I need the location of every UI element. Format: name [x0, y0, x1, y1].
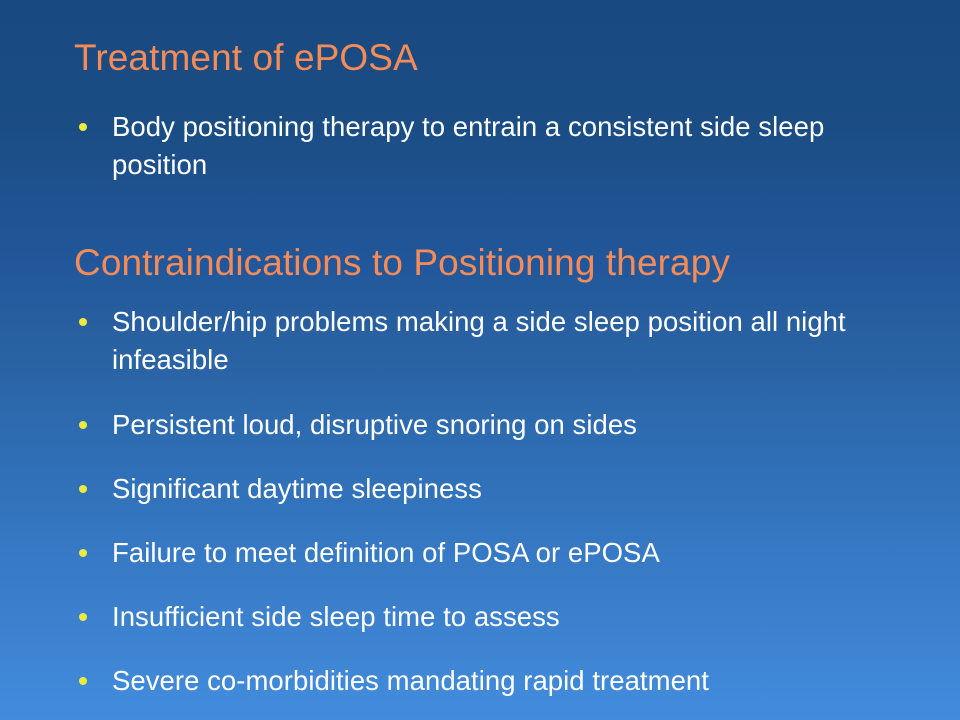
bullet-dot-icon [79, 677, 87, 685]
bullet-dot-icon [79, 485, 87, 493]
list-item-text: Shoulder/hip problems making a side slee… [112, 303, 904, 379]
list-item: Shoulder/hip problems making a side slee… [74, 303, 904, 379]
list-item: Failure to meet definition of POSA or eP… [74, 534, 904, 572]
list-item: Severe co-morbidities mandating rapid tr… [74, 662, 904, 700]
list-item: Insufficient side sleep time to assess [74, 598, 904, 636]
list-item-text: Severe co-morbidities mandating rapid tr… [112, 662, 904, 700]
bullet-dot-icon [79, 613, 87, 621]
list-item-text: Persistent loud, disruptive snoring on s… [112, 406, 904, 444]
section-heading: Contraindications to Positioning therapy [74, 241, 730, 285]
contraindications-bullet-list: Shoulder/hip problems making a side slee… [74, 303, 904, 700]
list-item: Persistent loud, disruptive snoring on s… [74, 406, 904, 444]
bullet-dot-icon [79, 123, 87, 131]
list-item: Significant daytime sleepiness [74, 470, 904, 508]
list-item: Body positioning therapy to entrain a co… [74, 108, 904, 184]
treatment-bullet-list: Body positioning therapy to entrain a co… [74, 108, 904, 184]
page-title: Treatment of ePOSA [74, 36, 418, 80]
bullet-dot-icon [79, 421, 87, 429]
presentation-slide: Treatment of ePOSA Body positioning ther… [0, 0, 960, 720]
list-item-text: Failure to meet definition of POSA or eP… [112, 534, 904, 572]
list-item-text: Body positioning therapy to entrain a co… [112, 108, 904, 184]
bullet-dot-icon [79, 318, 87, 326]
bullet-dot-icon [79, 549, 87, 557]
list-item-text: Significant daytime sleepiness [112, 470, 904, 508]
list-item-text: Insufficient side sleep time to assess [112, 598, 904, 636]
